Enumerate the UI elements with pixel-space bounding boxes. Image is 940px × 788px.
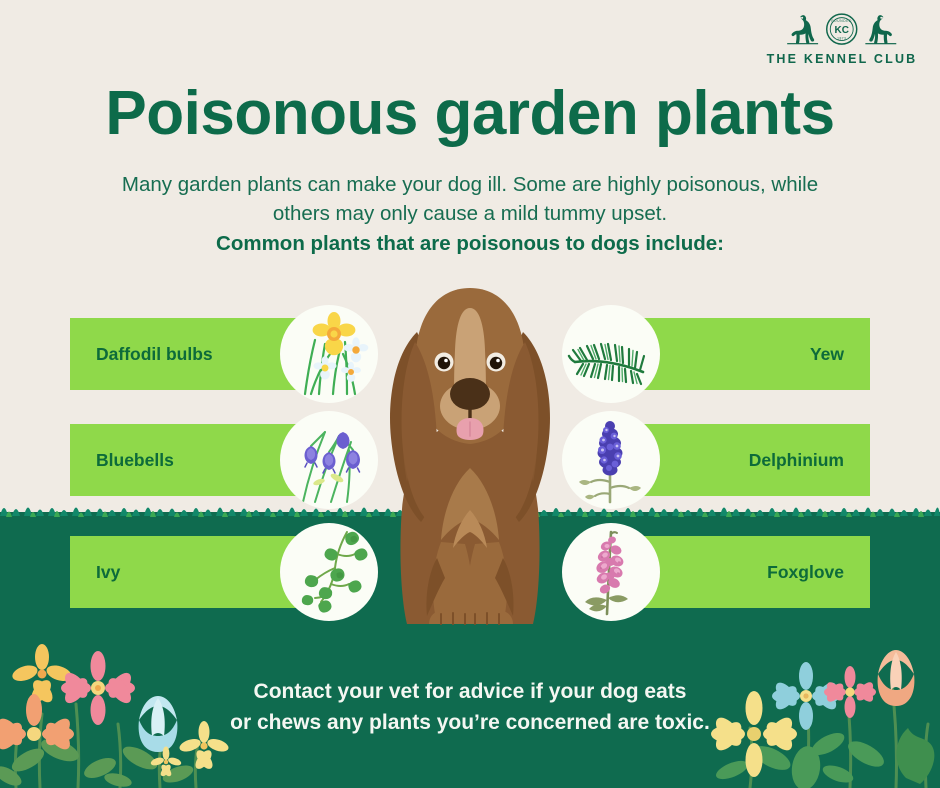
cocker-spaniel-dog-illustration	[345, 272, 595, 652]
plant-row-delphinium[interactable]: Delphinium	[580, 424, 870, 496]
plant-row-foxglove[interactable]: Foxglove	[580, 536, 870, 608]
svg-text:KC: KC	[835, 25, 849, 36]
plant-row-bluebells[interactable]: Bluebells	[70, 424, 360, 496]
plant-label: Bluebells	[96, 450, 174, 471]
footer-message: Contact your vet for advice if your dog …	[170, 676, 770, 738]
plant-label: Yew	[810, 344, 844, 365]
kennel-club-badge-icon: KC FOUNDED 1873	[769, 10, 914, 50]
footer-line-2: or chews any plants you’re concerned are…	[170, 707, 770, 738]
logo-wordmark: THE KENNEL CLUB	[762, 52, 922, 66]
plant-label: Ivy	[96, 562, 120, 583]
kennel-club-logo[interactable]: KC FOUNDED 1873 THE KENNEL CLUB	[762, 10, 922, 72]
kicker-text: Common plants that are poisonous to dogs…	[120, 232, 820, 256]
plant-row-daffodil-bulbs[interactable]: Daffodil bulbs	[70, 318, 360, 390]
footer-line-1: Contact your vet for advice if your dog …	[170, 676, 770, 707]
subtitle-text: Many garden plants can make your dog ill…	[120, 170, 820, 228]
page-title: Poisonous garden plants	[0, 78, 940, 149]
svg-text:FOUNDED: FOUNDED	[832, 19, 853, 23]
plant-row-ivy[interactable]: Ivy	[70, 536, 360, 608]
plant-label: Delphinium	[749, 450, 844, 471]
plant-label: Foxglove	[767, 562, 844, 583]
infographic-poster: KC FOUNDED 1873 THE KENNEL CLUB Poisonou…	[0, 0, 940, 788]
plant-row-yew[interactable]: Yew	[580, 318, 870, 390]
plant-label: Daffodil bulbs	[96, 344, 213, 365]
svg-text:1873: 1873	[837, 37, 846, 41]
